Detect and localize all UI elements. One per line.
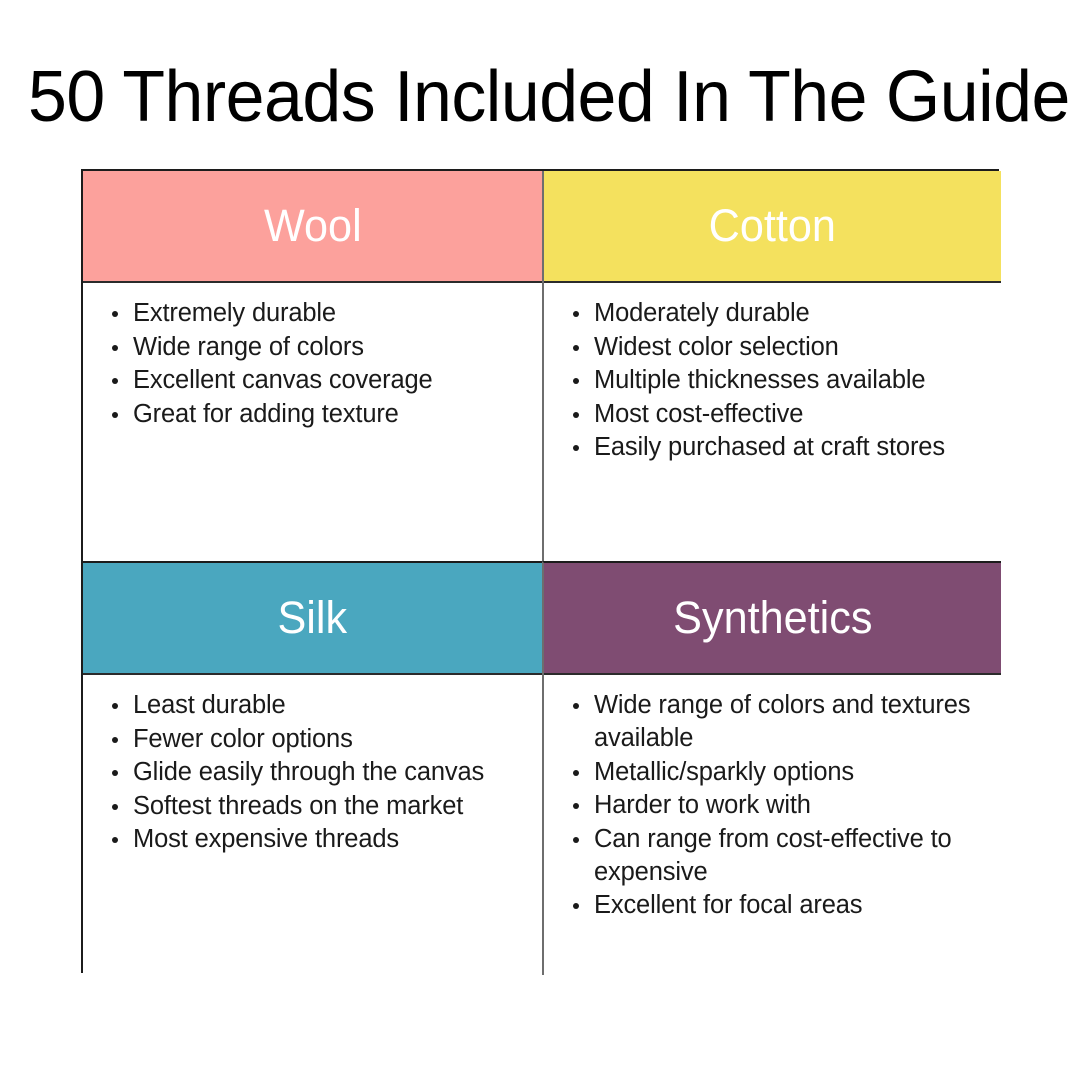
quadrant-header-label-synthetics: Synthetics <box>673 592 872 644</box>
list-item: Wide range of colors and textures availa… <box>566 689 983 755</box>
page-title: 50 Threads Included In The Guide <box>28 54 1027 140</box>
quadrant-body-synthetics: Wide range of colors and textures availa… <box>544 675 1001 975</box>
list-item: Least durable <box>105 689 524 722</box>
feature-list-silk: Least durable Fewer color options Glide … <box>105 689 524 856</box>
quadrant-header-wool: Wool <box>83 171 542 283</box>
quadrant-wool: Wool Extremely durable Wide range of col… <box>83 171 542 561</box>
quadrant-header-label-wool: Wool <box>264 200 362 252</box>
thread-comparison-table: Wool Extremely durable Wide range of col… <box>81 169 999 973</box>
quadrant-header-label-cotton: Cotton <box>709 200 836 252</box>
quadrant-body-wool: Extremely durable Wide range of colors E… <box>83 283 542 561</box>
list-item: Moderately durable <box>566 297 983 330</box>
list-item: Most expensive threads <box>105 823 524 856</box>
list-item: Harder to work with <box>566 789 983 822</box>
quadrant-silk: Silk Least durable Fewer color options G… <box>83 561 542 975</box>
list-item: Great for adding texture <box>105 398 524 431</box>
quadrant-cotton: Cotton Moderately durable Widest color s… <box>542 171 1001 561</box>
list-item: Fewer color options <box>105 723 524 756</box>
list-item: Can range from cost-effective to expensi… <box>566 823 983 889</box>
quadrant-body-silk: Least durable Fewer color options Glide … <box>83 675 542 975</box>
list-item: Softest threads on the market <box>105 790 524 823</box>
quadrant-synthetics: Synthetics Wide range of colors and text… <box>542 561 1001 975</box>
list-item: Extremely durable <box>105 297 524 330</box>
list-item: Easily purchased at craft stores <box>566 431 983 464</box>
list-item: Excellent for focal areas <box>566 889 983 922</box>
list-item: Glide easily through the canvas <box>105 756 524 789</box>
list-item: Excellent canvas coverage <box>105 364 524 397</box>
list-item: Multiple thicknesses available <box>566 364 983 397</box>
list-item: Most cost-effective <box>566 398 983 431</box>
list-item: Widest color selection <box>566 331 983 364</box>
feature-list-wool: Extremely durable Wide range of colors E… <box>105 297 524 431</box>
quadrant-header-synthetics: Synthetics <box>544 563 1001 675</box>
quadrant-body-cotton: Moderately durable Widest color selectio… <box>544 283 1001 561</box>
feature-list-synthetics: Wide range of colors and textures availa… <box>566 689 983 922</box>
quadrant-header-cotton: Cotton <box>544 171 1001 283</box>
quadrant-header-label-silk: Silk <box>278 592 348 644</box>
feature-list-cotton: Moderately durable Widest color selectio… <box>566 297 983 464</box>
list-item: Metallic/sparkly options <box>566 756 983 789</box>
quadrant-header-silk: Silk <box>83 563 542 675</box>
list-item: Wide range of colors <box>105 331 524 364</box>
